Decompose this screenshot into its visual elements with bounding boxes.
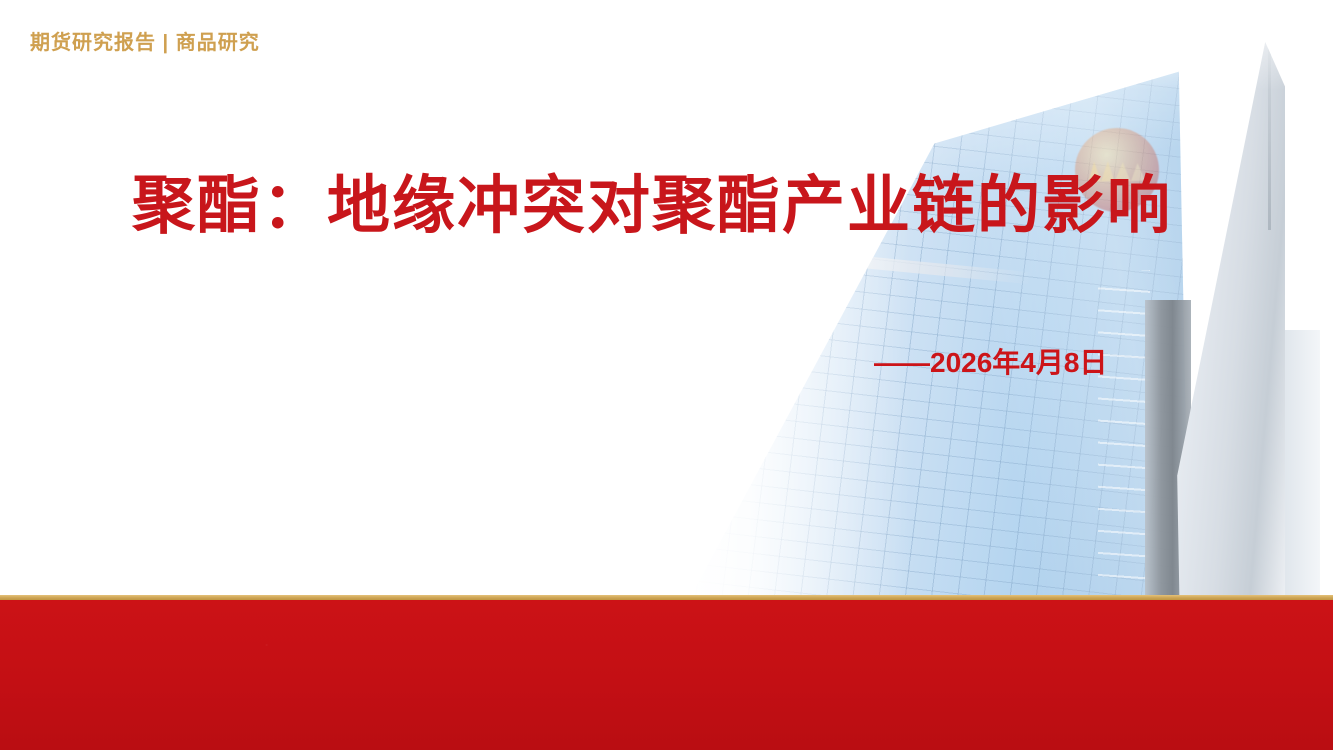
title-slide: 期货研究报告 | 商品研究 聚酯：地缘冲突对聚酯产业链的影响 ——2026年4月… bbox=[0, 0, 1333, 750]
photo-top-fade bbox=[690, 0, 1333, 90]
footer-bar: 招商期货朱志鹏 zhuzp1@cmschina.com.cn 执业资格号：Z00… bbox=[0, 600, 1333, 750]
title-date-line: ——2026年4月8日 bbox=[874, 341, 1107, 381]
report-category-label: 期货研究报告 | 商品研究 bbox=[30, 26, 260, 55]
building-photo bbox=[690, 0, 1333, 598]
tower-spire bbox=[1175, 42, 1285, 598]
page-title: 聚酯：地缘冲突对聚酯产业链的影响 bbox=[132, 172, 1172, 241]
facade-column-blue bbox=[1098, 270, 1150, 598]
